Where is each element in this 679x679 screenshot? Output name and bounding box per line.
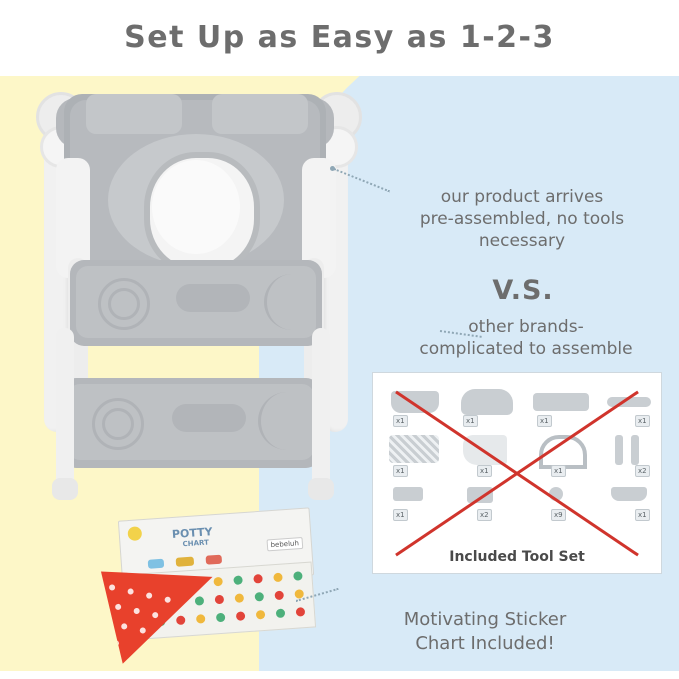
toolbox-caption: Included Tool Set	[373, 549, 661, 565]
leader-dot-start	[330, 166, 335, 171]
sticker-chart-image: POTTY CHART bebeluh	[96, 510, 328, 660]
tool-qty: x2	[635, 465, 650, 477]
tool-qty: x1	[477, 465, 492, 477]
tool-qty: x1	[635, 415, 650, 427]
tool-item: x2	[605, 433, 661, 477]
tool-qty: x1	[463, 415, 478, 427]
tool-qty: x1	[537, 415, 552, 427]
chart-subtitle: CHART	[182, 538, 209, 548]
page-title: Set Up as Easy as 1-2-3	[0, 20, 679, 55]
tool-qty: x1	[551, 465, 566, 477]
tool-qty: x1	[393, 415, 408, 427]
tool-item: x1	[457, 385, 521, 425]
caption-other-brands: other brands- complicated to assemble	[376, 316, 676, 360]
tool-item: x1	[387, 433, 447, 477]
included-tool-set-panel: x1 x1 x1 x1 x1 x1	[372, 372, 662, 574]
tool-item: x1	[605, 485, 661, 529]
brand-label: bebeluh	[266, 537, 303, 552]
caption-sticker-chart: Motivating Sticker Chart Included!	[300, 608, 670, 656]
tool-qty: x1	[393, 465, 408, 477]
tool-qty: x1	[635, 509, 650, 521]
background-footer-strip	[0, 671, 679, 679]
potty-training-ladder-image	[26, 78, 356, 508]
tool-qty: x2	[477, 509, 492, 521]
tool-item: x1	[531, 385, 595, 425]
versus-label: V.S.	[418, 275, 628, 306]
tool-grid: x1 x1 x1 x1 x1 x1	[381, 381, 653, 531]
product-infographic: Set Up as Easy as 1-2-3	[0, 0, 679, 679]
tool-qty: x1	[393, 509, 408, 521]
tool-qty: x9	[551, 509, 566, 521]
caption-pre-assembled: our product arrives pre-assembled, no to…	[376, 186, 668, 252]
tool-item: x1	[387, 485, 447, 529]
